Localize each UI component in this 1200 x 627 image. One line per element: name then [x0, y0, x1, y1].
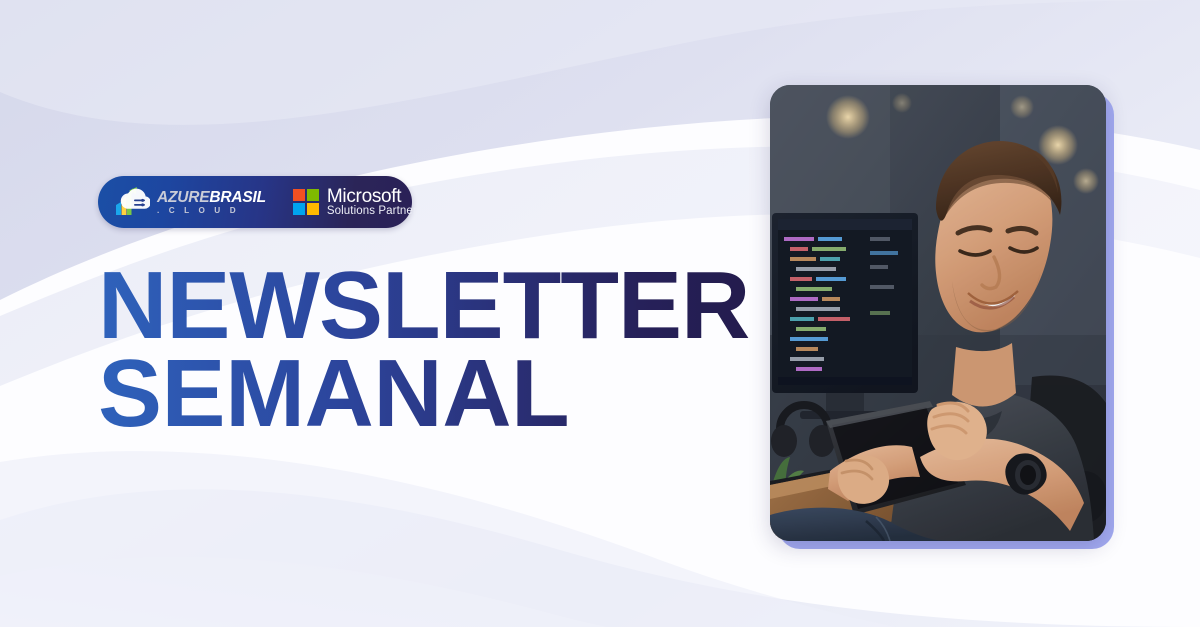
square-green — [307, 189, 319, 201]
square-blue — [293, 203, 305, 215]
square-orange — [293, 189, 305, 201]
microsoft-partner-logo: Microsoft Solutions Partner — [293, 187, 417, 218]
brand-brasil-text: BRASIL — [209, 189, 266, 206]
microsoft-logo-icon — [293, 189, 319, 215]
brand-logo-pill[interactable]: AZUREBRASIL . C L O U D Microsoft Soluti… — [98, 176, 412, 228]
headline-line-2: SEMANAL — [98, 350, 758, 438]
brand-azure-text: AZURE — [157, 189, 209, 206]
page-title: NEWSLETTER SEMANAL — [98, 262, 758, 439]
azure-brasil-wordmark: AZUREBRASIL . C L O U D — [157, 189, 266, 216]
square-yellow — [307, 203, 319, 215]
azure-brasil-logo: AZUREBRASIL . C L O U D — [98, 185, 266, 219]
azure-brasil-cloud-icon — [110, 185, 150, 219]
microsoft-subtitle: Solutions Partner — [327, 205, 417, 217]
newsletter-banner: AZUREBRASIL . C L O U D Microsoft Soluti… — [0, 0, 1200, 627]
hero-photo — [770, 85, 1106, 541]
microsoft-name: Microsoft — [327, 187, 417, 207]
headline-line-1: NEWSLETTER — [98, 262, 758, 350]
hero-photo-image — [770, 85, 1106, 541]
brand-domain-text: . C L O U D — [157, 207, 266, 215]
